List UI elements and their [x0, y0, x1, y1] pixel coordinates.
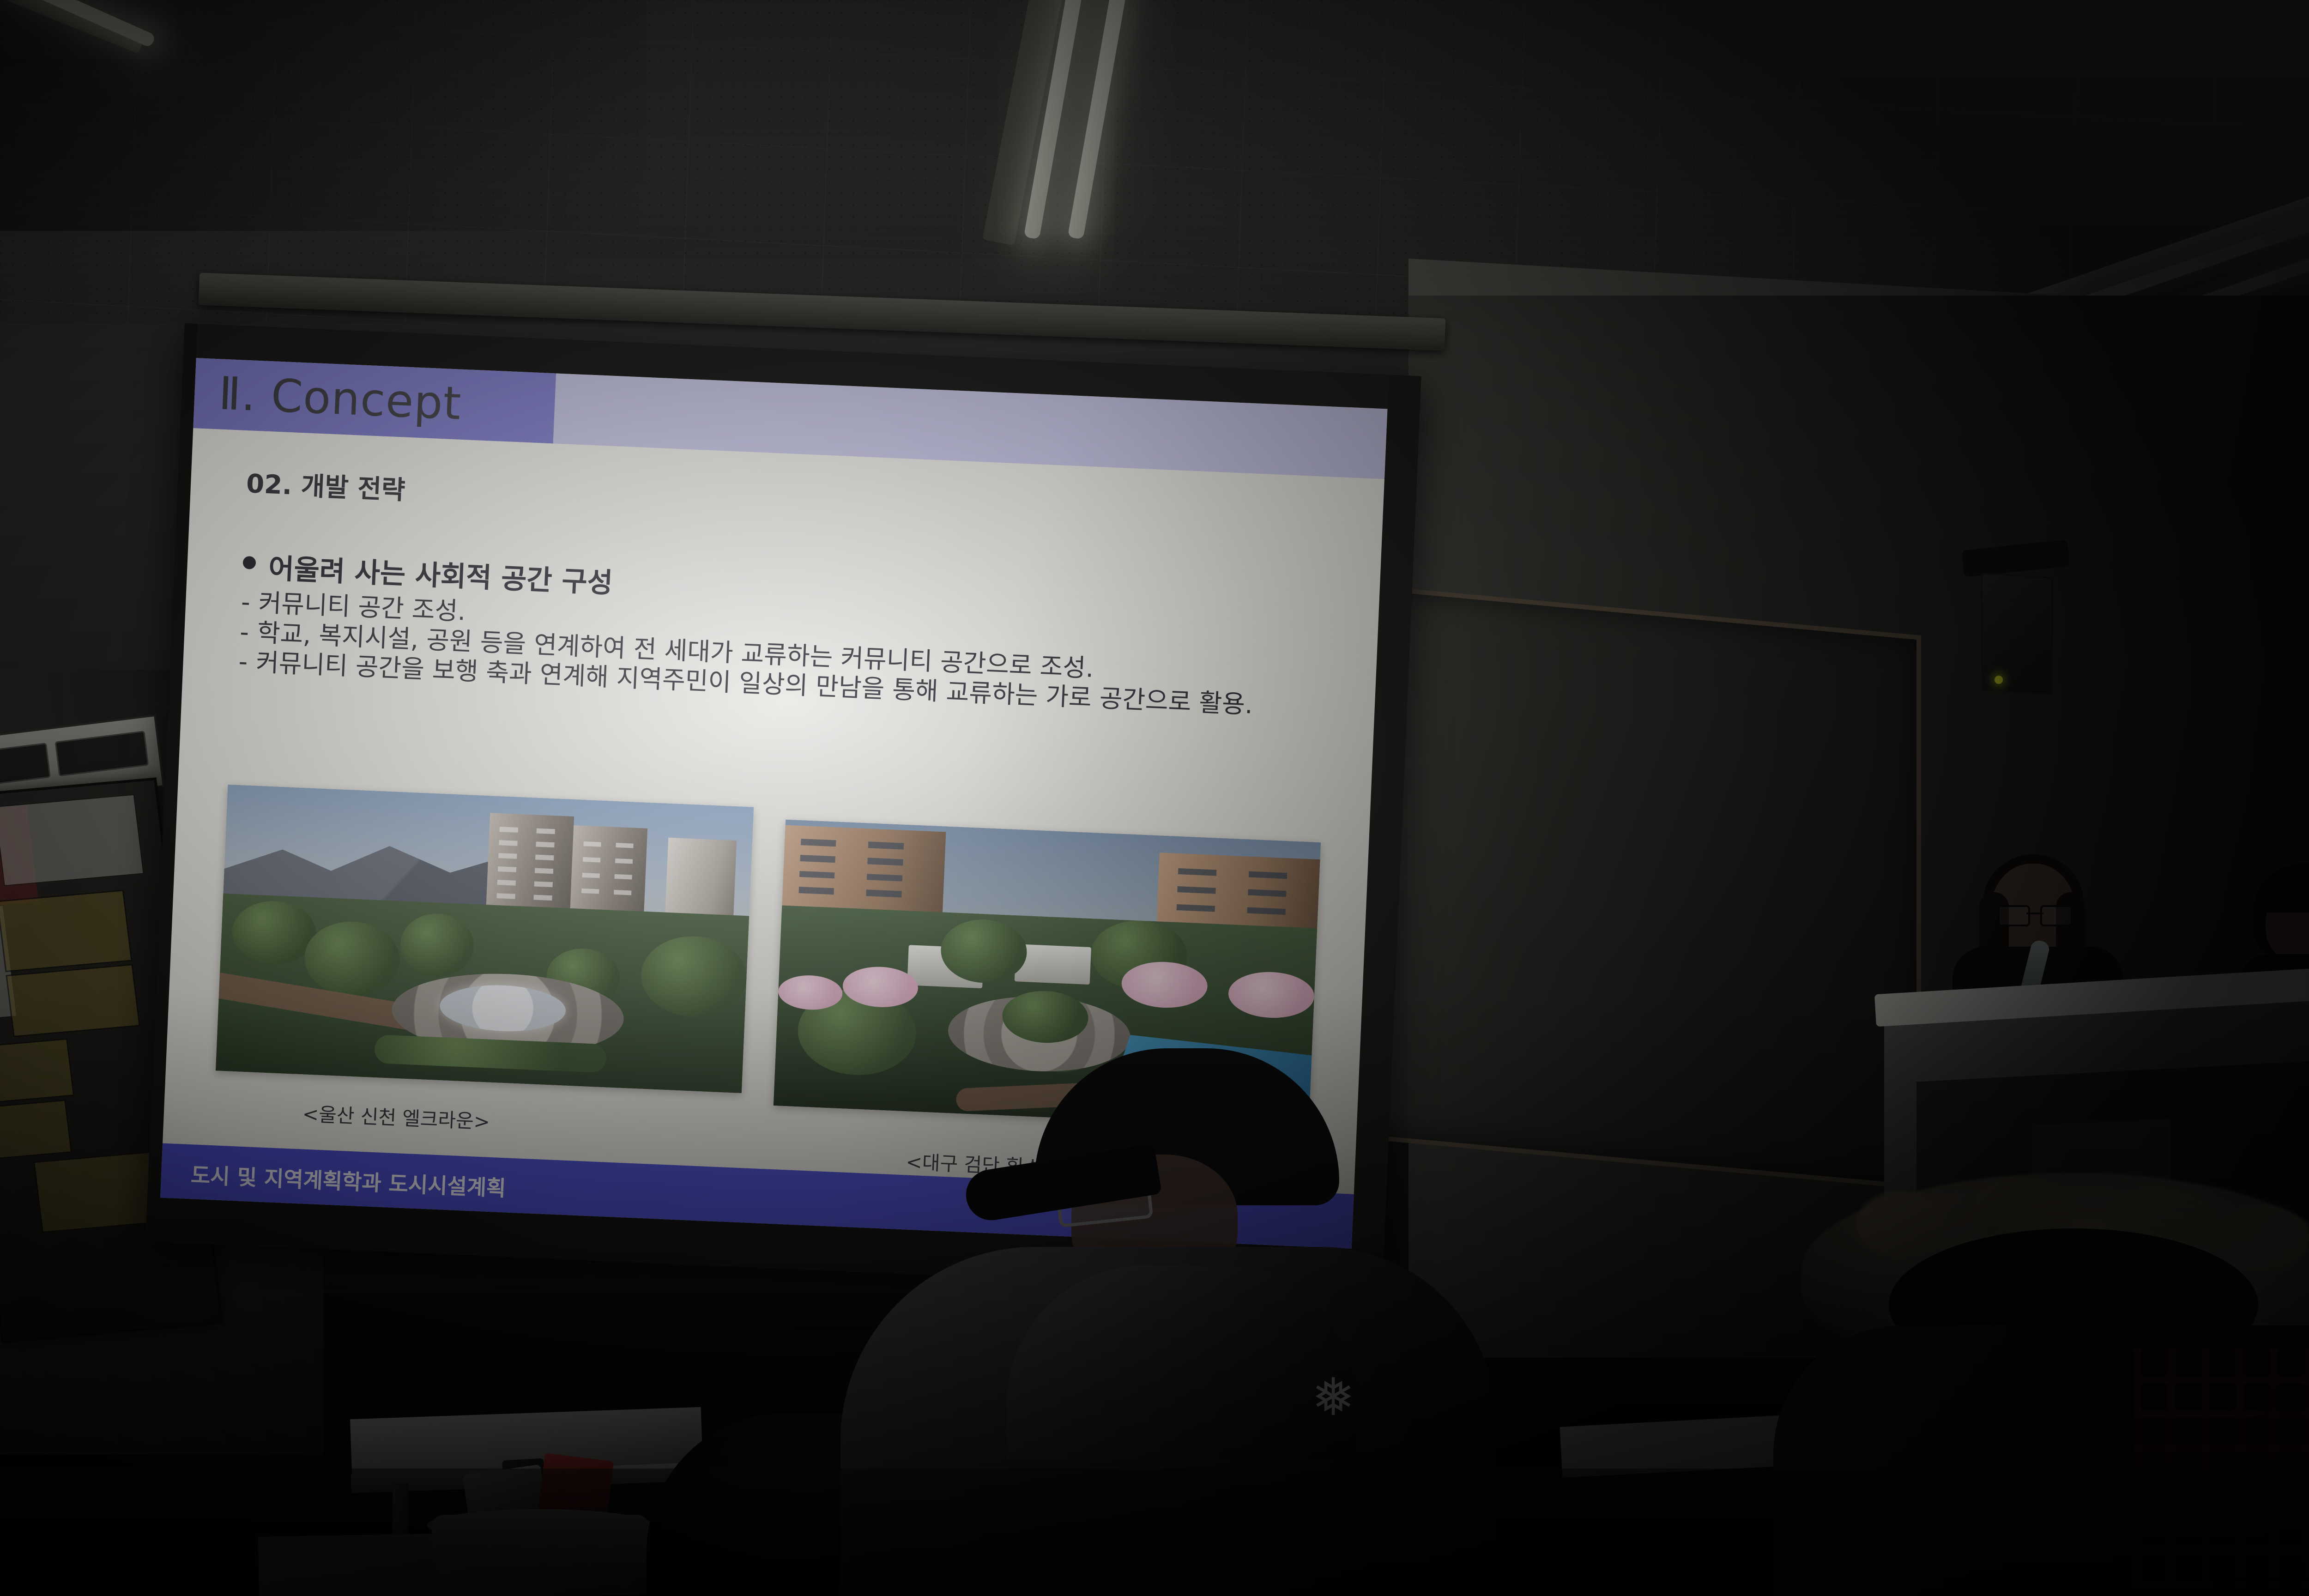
slide-subtitle: 02. 개발 전략	[246, 463, 406, 507]
slide-footer-text: 도시 및 지역계획학과 도시시설계획	[190, 1158, 507, 1202]
bullet-dot-icon	[242, 556, 256, 569]
lower-room-darkness	[0, 1469, 2309, 1596]
poster-tag-1	[0, 743, 51, 785]
wall-speaker	[1981, 573, 2053, 696]
poster-cell-1	[0, 889, 133, 972]
poster-cell-5	[33, 1151, 160, 1233]
poster-cell-4	[0, 1100, 72, 1161]
dash-icon-3: -	[238, 649, 248, 675]
second-person-bangs	[2262, 881, 2309, 913]
photo-ulsan-elcrown	[216, 785, 754, 1093]
poster-white-block-1	[0, 794, 144, 886]
fur-tuft-4	[2217, 1205, 2309, 1270]
snowflake-icon: ❅	[1312, 1372, 1367, 1427]
speaker-power-led	[1995, 676, 2003, 684]
photo-caption-left: <울산 신천 엘크라운>	[302, 1098, 490, 1134]
poster-cell-2	[6, 964, 140, 1037]
poster-tag-2	[54, 731, 149, 776]
slide-title: Ⅱ. Concept	[218, 367, 462, 430]
presenter-glasses	[1998, 905, 2073, 923]
slide-bullet-list: 어울려 사는 사회적 공간 구성 - 커뮤니티 공간 조성. - 학교, 복지시…	[238, 545, 1342, 724]
dash-icon-1: -	[241, 590, 251, 615]
poster-cell-3	[0, 1038, 74, 1106]
lecture-room-photo: Ⅱ. Concept 02. 개발 전략 어울려 사는 사회적 공간 구성 - …	[0, 0, 2309, 1596]
fur-tuft-1	[1856, 1191, 1944, 1256]
dash-icon-2: -	[239, 619, 249, 645]
